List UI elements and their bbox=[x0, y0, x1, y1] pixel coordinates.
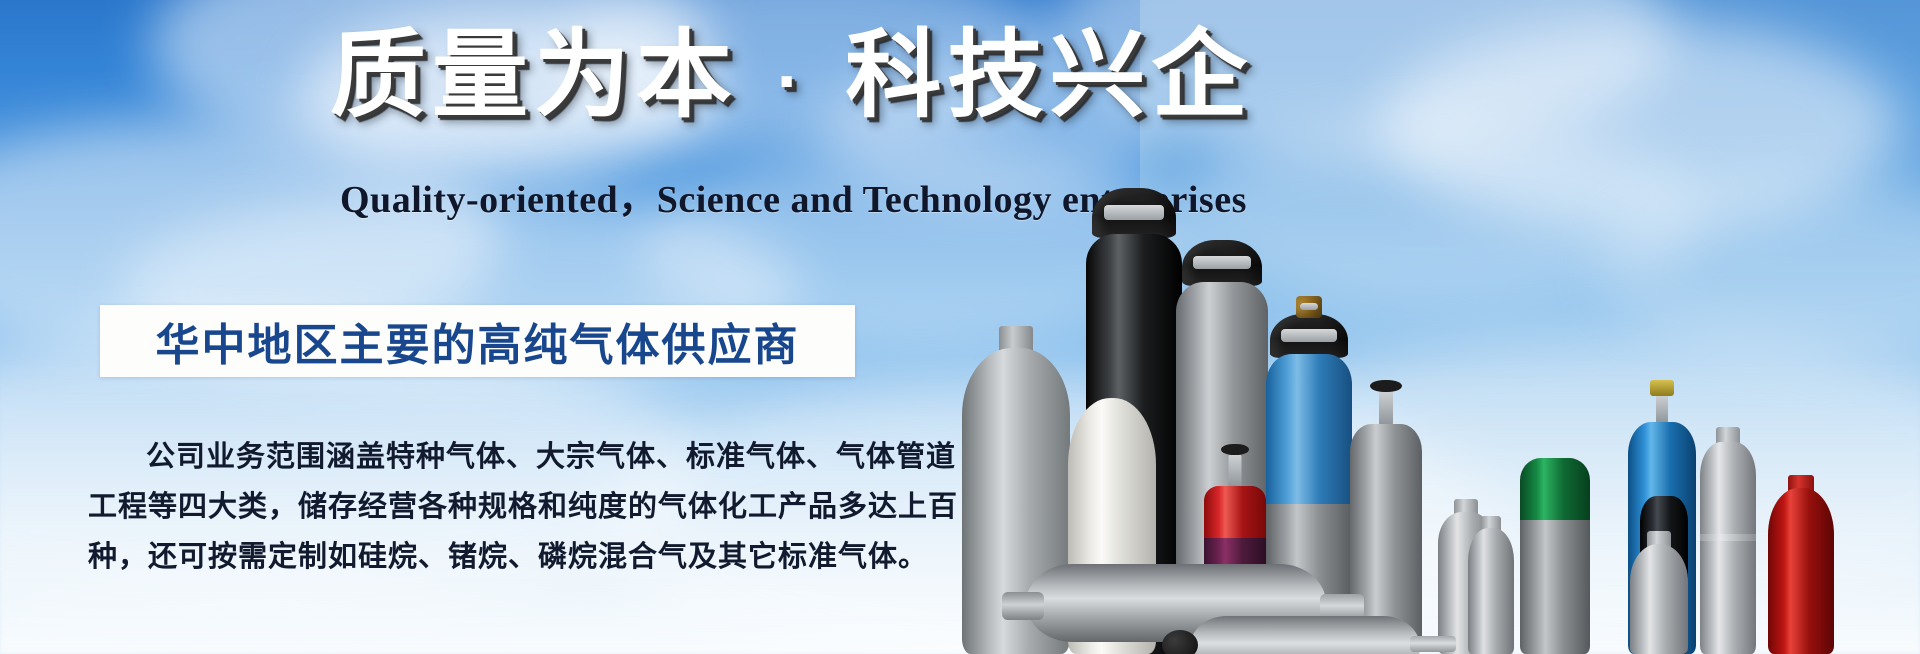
headline-separator-dot: · bbox=[771, 42, 813, 122]
body-line-3: 种，还可按需定制如硅烷、锗烷、磷烷混合气及其它标准气体。 bbox=[88, 532, 888, 582]
headline-part-one: 质量为本 bbox=[330, 22, 738, 129]
body-line-2: 工程等四大类，储存经营各种规格和纯度的气体化工产品多达上百 bbox=[88, 482, 888, 532]
cylinder-green-band bbox=[1520, 458, 1590, 654]
tank-small-valve bbox=[1410, 636, 1456, 652]
cylinder-aluminium-short bbox=[1630, 544, 1688, 654]
cylinder-aluminium-slim bbox=[1468, 528, 1514, 654]
cylinder-red-aluminium bbox=[1768, 488, 1834, 654]
banner-body-copy: 公司业务范围涵盖特种气体、大宗气体、标准气体、气体管道 工程等四大类，储存经营各… bbox=[88, 432, 888, 582]
tank-horizontal-grey-endcap bbox=[1002, 592, 1044, 620]
cylinder-aluminium-tall bbox=[1700, 442, 1756, 654]
gas-cylinder-group-photo bbox=[940, 170, 1920, 654]
body-line-1: 公司业务范围涵盖特种气体、大宗气体、标准气体、气体管道 bbox=[88, 432, 888, 482]
slogan-box: 华中地区主要的高纯气体供应商 bbox=[100, 305, 855, 377]
headline-part-two: 科技兴企 bbox=[845, 22, 1253, 129]
tank-small-knob bbox=[1162, 630, 1198, 654]
promotional-banner: 质量为本 · 科技兴企 Quality-oriented，Science and… bbox=[0, 0, 1920, 654]
tank-horizontal-small bbox=[1190, 616, 1420, 654]
banner-headline: 质量为本 · 科技兴企 bbox=[330, 24, 1250, 128]
slogan-text: 华中地区主要的高纯气体供应商 bbox=[156, 309, 800, 373]
